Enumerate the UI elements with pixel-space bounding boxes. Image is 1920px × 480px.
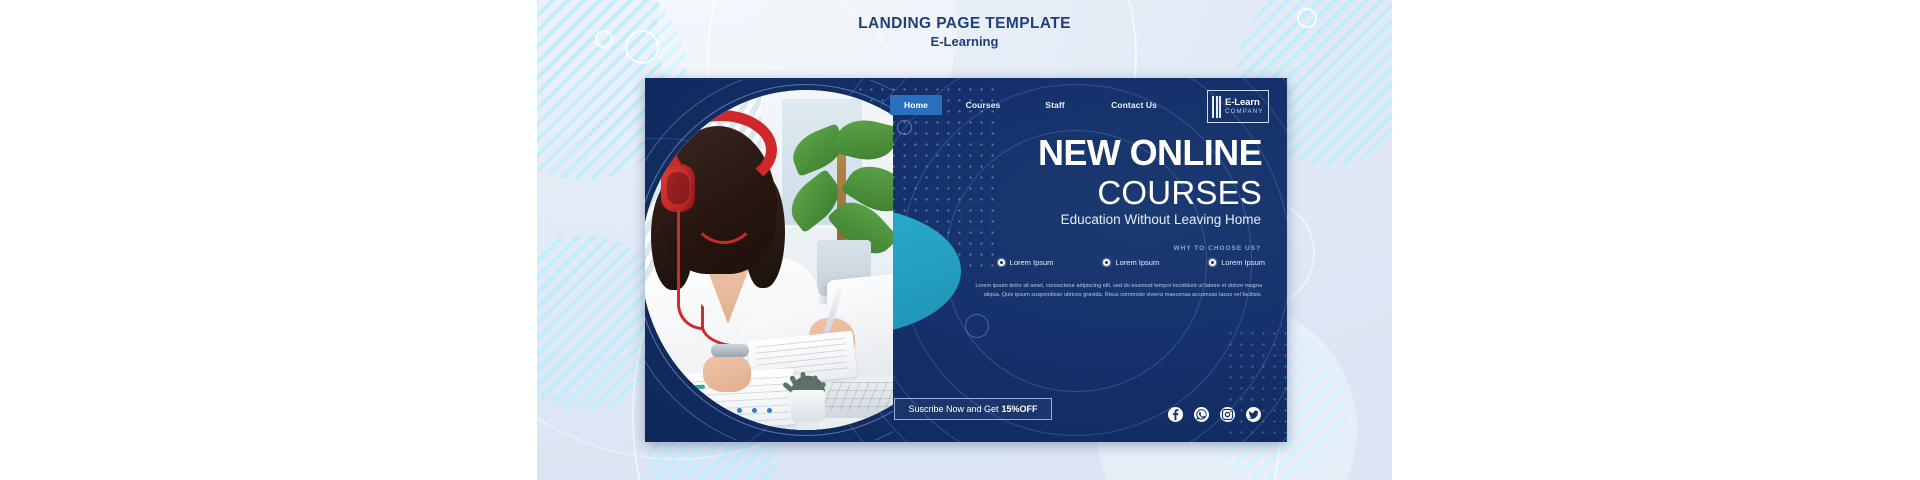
feature-bullet-1: Lorem Ipsum	[998, 258, 1054, 267]
feature-bullet-label: Lorem Ipsum	[1115, 258, 1159, 267]
brand-logo[interactable]: E-Learn COMPANY	[1207, 90, 1269, 123]
page-title: LANDING PAGE TEMPLATE	[537, 14, 1392, 33]
bullet-dot-icon	[998, 259, 1005, 266]
hero-paragraph: Lorem ipsum dolor sit amet, consectetur …	[972, 282, 1262, 299]
nav-item-contact-us[interactable]: Contact Us	[1098, 95, 1170, 115]
twitter-icon[interactable]	[1246, 407, 1261, 422]
bullet-dot-icon	[1103, 259, 1110, 266]
feature-bullet-2: Lorem Ipsum	[1103, 258, 1159, 267]
feature-bullet-label: Lorem Ipsum	[1010, 258, 1054, 267]
social-links	[1168, 407, 1261, 422]
nav-item-staff[interactable]: Staff	[1024, 95, 1086, 115]
hero-content: NEW ONLINE COURSES Education Without Lea…	[645, 78, 1287, 442]
subscribe-discount-badge: 15%OFF	[1002, 404, 1038, 414]
hero-title-line2: COURSES	[1097, 174, 1262, 212]
whatsapp-icon[interactable]	[1194, 407, 1209, 422]
nav-item-home[interactable]: Home	[890, 95, 942, 115]
poster-title-block: LANDING PAGE TEMPLATE E-Learning	[537, 14, 1392, 51]
facebook-icon[interactable]	[1168, 407, 1183, 422]
nav-items: Home Courses Staff Contact Us	[890, 95, 1170, 115]
book-spine-icon	[1212, 96, 1221, 118]
navigation-bar: Home Courses Staff Contact Us E-Learn CO…	[645, 78, 1287, 132]
feature-bullet-label: Lorem Ipsum	[1221, 258, 1265, 267]
hero-title-line1: NEW ONLINE	[1038, 133, 1262, 173]
hero-subtitle: Education Without Leaving Home	[1061, 212, 1261, 227]
instagram-icon[interactable]	[1220, 407, 1235, 422]
subscribe-button[interactable]: Suscribe Now and Get 15%OFF	[894, 398, 1052, 420]
landing-page-card: Home Courses Staff Contact Us E-Learn CO…	[645, 78, 1287, 442]
why-choose-us-label: WHY TO CHOOSE US?	[1173, 245, 1261, 252]
screenshot-canvas: LANDING PAGE TEMPLATE E-Learning	[0, 0, 1920, 480]
logo-text: E-Learn COMPANY	[1225, 98, 1264, 116]
bullet-dot-icon	[1209, 259, 1216, 266]
logo-subtitle: COMPANY	[1225, 109, 1264, 115]
nav-item-courses[interactable]: Courses	[952, 95, 1014, 115]
subscribe-button-text: Suscribe Now and Get	[908, 404, 998, 414]
feature-bullet-3: Lorem Ipsum	[1209, 258, 1265, 267]
page-subtitle: E-Learning	[537, 33, 1392, 51]
logo-name: E-Learn	[1225, 98, 1264, 108]
feature-bullets: Lorem Ipsum Lorem Ipsum Lorem Ipsum	[998, 258, 1265, 267]
